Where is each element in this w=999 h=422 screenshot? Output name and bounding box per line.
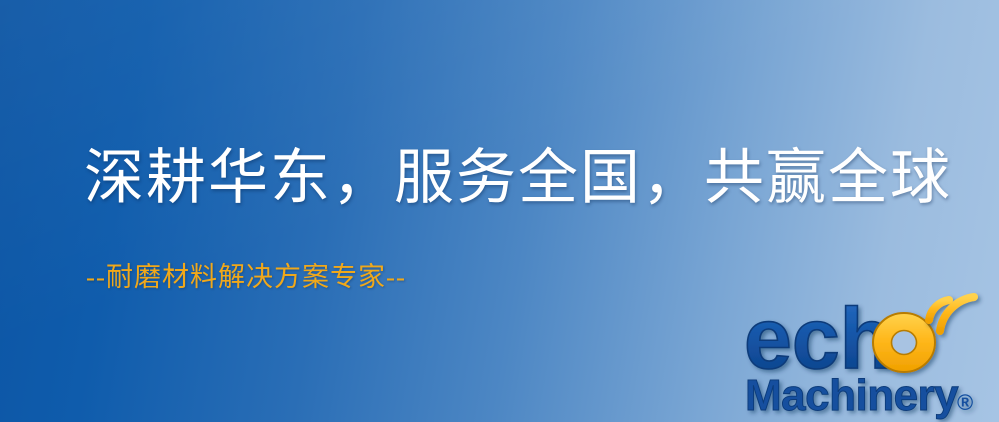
banner-headline: 深耕华东，服务全国，共赢全球 — [84, 148, 952, 208]
signal-arcs-icon — [929, 297, 974, 331]
logo-trademark-symbol: ® — [957, 390, 973, 415]
hero-banner: 深耕华东，服务全国，共赢全球 --耐磨材料解决方案专家-- — [0, 0, 999, 422]
banner-subtitle: --耐磨材料解决方案专家-- — [86, 264, 406, 291]
logo-machinery-text: Machinery — [745, 371, 959, 420]
echo-machinery-logo[interactable]: ech Machinery ® — [744, 296, 996, 420]
